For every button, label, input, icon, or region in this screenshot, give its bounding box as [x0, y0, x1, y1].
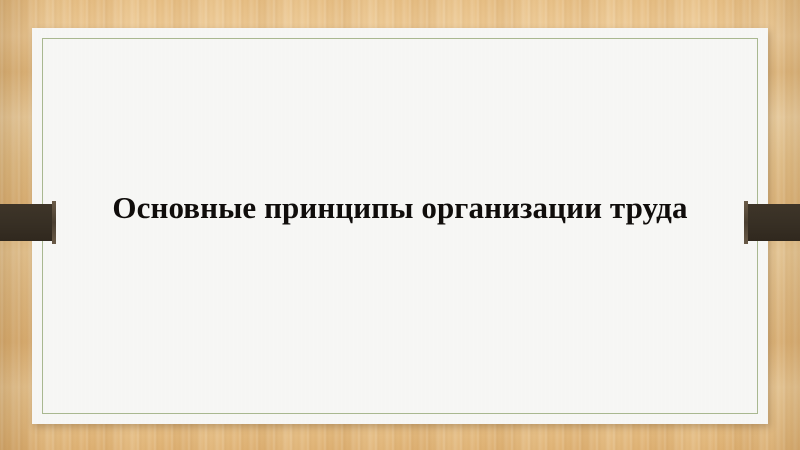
presentation-slide: Основные принципы организации труда	[0, 0, 800, 450]
slide-title: Основные принципы организации труда	[0, 189, 800, 227]
